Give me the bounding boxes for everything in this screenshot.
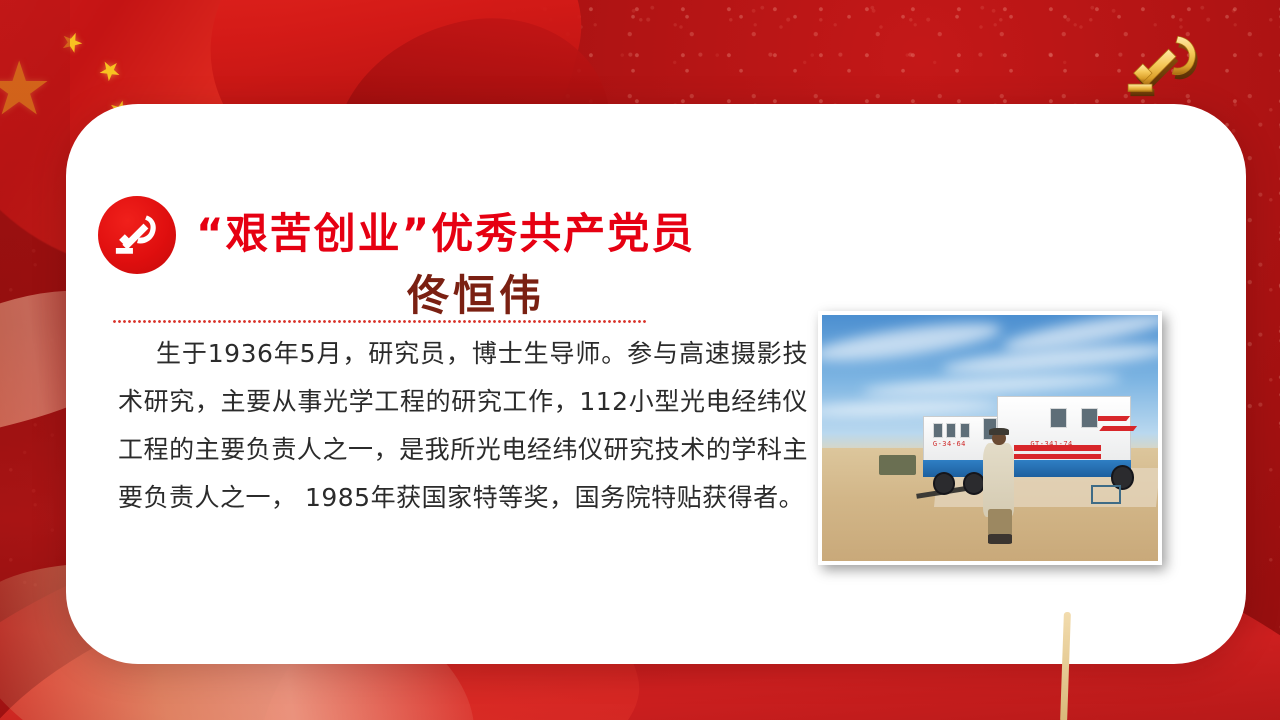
trailer-window: [1050, 408, 1067, 428]
trailer-wheel: [963, 472, 985, 494]
photo-image: G-34-64 GT-341-74: [822, 315, 1158, 561]
trailer-blue-band: [923, 460, 1131, 477]
photo-frame: G-34-64 GT-341-74: [818, 311, 1162, 565]
slide-canvas: ★ ★ ★ ★ ★: [0, 0, 1280, 720]
trailer-red-stripe: [1099, 426, 1137, 431]
page-title: “艰苦创业”优秀共产党员: [196, 200, 756, 261]
trailer-label-right: GT-341-74: [1030, 440, 1072, 448]
trailer-support-stand: [1091, 485, 1121, 505]
trailer-red-stripe: [1014, 454, 1101, 459]
hammer-sickle-glyph: [111, 209, 163, 261]
dotted-divider: [112, 320, 646, 323]
trailer-window: [933, 423, 943, 438]
person-coat: [983, 443, 1013, 517]
trailer-window: [1081, 408, 1098, 428]
trailer-wheel: [933, 472, 955, 494]
person-hat: [989, 428, 1009, 434]
biography-paragraph: 生于1936年5月，研究员，博士生导师。参与高速摄影技术研究，主要从事光学工程的…: [118, 330, 808, 522]
person-legs: [988, 509, 1012, 536]
trailer-window: [960, 423, 970, 438]
trailer-label-left: G-34-64: [933, 440, 966, 448]
trailer-window: [946, 423, 956, 438]
person-boots: [988, 534, 1012, 544]
party-emblem-gold-icon: [1118, 26, 1210, 100]
person-name: 佟恒伟: [196, 262, 756, 323]
background-vehicle: [879, 455, 916, 475]
hammer-and-sickle-icon: [98, 196, 176, 274]
